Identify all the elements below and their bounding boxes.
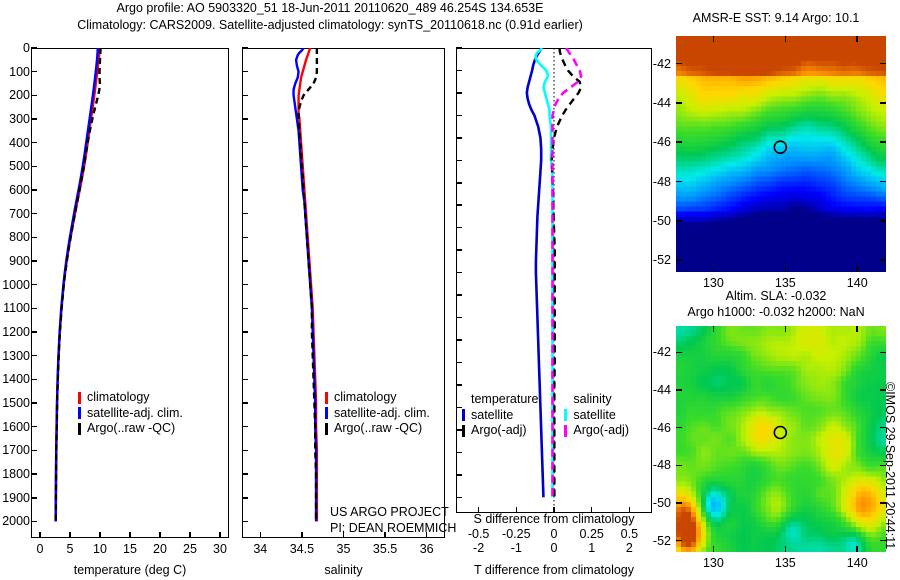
x-tick-mark: [785, 266, 787, 272]
y-tick-mark: [456, 160, 462, 162]
y-tick-mark: [456, 227, 462, 229]
y-tick-mark: [31, 450, 37, 452]
legend-swatch: [564, 409, 567, 421]
legend-item: satellite: [462, 408, 538, 424]
y-tick-mark: [31, 142, 37, 144]
y-tick-mark: [31, 331, 37, 333]
x-tick-mark: [856, 546, 858, 552]
y-tick-mark: [456, 362, 462, 364]
y-tick-mark: [31, 473, 37, 475]
x-tick-label: 0.25: [580, 527, 604, 541]
y-tick-label: 1500: [0, 396, 30, 410]
y-tick-label: 400: [0, 136, 30, 150]
y-tick-mark: [242, 213, 248, 215]
y-tick-mark: [676, 502, 682, 504]
y-tick-label: 1600: [0, 420, 30, 434]
sla-map-image: [676, 326, 886, 552]
y-tick-mark: [676, 259, 682, 261]
x-tick-label: -0.25: [502, 527, 531, 541]
y-tick-mark: [456, 182, 462, 184]
y-tick-mark: [456, 497, 462, 499]
legend-swatch: [78, 392, 81, 404]
y-tick-label: 800: [0, 230, 30, 244]
y-tick-mark: [242, 189, 248, 191]
y-tick-label: -52: [636, 253, 671, 267]
legend-column: salinitysatelliteArgo(-adj): [564, 392, 629, 439]
y-tick-mark: [456, 452, 462, 454]
y-tick-mark: [242, 47, 248, 49]
imos-credit: ©IMOS 29-Sep-2011 20:44:11: [883, 382, 897, 549]
y-tick-mark: [676, 465, 682, 467]
legend-column: temperaturesatelliteArgo(-adj): [462, 392, 538, 439]
y-tick-mark: [456, 317, 462, 319]
s-difference-axis-label: S difference from climatology: [452, 512, 656, 526]
legend-item: Argo(..raw -QC): [325, 421, 430, 437]
y-tick-mark: [456, 204, 462, 206]
y-tick-mark: [242, 402, 248, 404]
y-tick-mark: [242, 450, 248, 452]
y-tick-label: 1900: [0, 491, 30, 505]
x-tick-label: 35: [337, 542, 351, 556]
y-tick-mark: [31, 166, 37, 168]
x-tick-label: -0.5: [468, 527, 490, 541]
legend-label: Argo(-adj): [573, 423, 629, 439]
y-tick-mark: [31, 426, 37, 428]
y-tick-mark: [31, 118, 37, 120]
y-tick-mark: [31, 213, 37, 215]
y-tick-mark: [880, 259, 886, 261]
legend-swatch: [325, 392, 328, 404]
x-tick-label: 130: [703, 556, 724, 570]
y-tick-mark: [676, 102, 682, 104]
x-tick-mark: [713, 266, 715, 272]
y-tick-label: -48: [636, 458, 671, 472]
x-tick-label: 36: [420, 542, 434, 556]
project-credit: US ARGO PROJECT: [330, 505, 449, 519]
y-tick-mark: [242, 426, 248, 428]
y-tick-mark: [456, 474, 462, 476]
x-tick-mark: [39, 532, 41, 538]
pi-credit: PI: DEAN ROEMMICH: [330, 521, 456, 535]
y-tick-label: 1000: [0, 278, 30, 292]
x-tick-mark: [856, 326, 858, 332]
y-tick-mark: [31, 260, 37, 262]
y-tick-mark: [456, 47, 462, 49]
y-tick-mark: [242, 331, 248, 333]
y-tick-mark: [242, 284, 248, 286]
x-tick-label: 5: [67, 542, 74, 556]
y-tick-label: -52: [636, 534, 671, 548]
legend-swatch: [564, 425, 567, 437]
y-tick-label: -48: [636, 175, 671, 189]
salinity-legend: climatologysatellite-adj. clim.Argo(..ra…: [325, 390, 430, 437]
y-tick-label: 1700: [0, 443, 30, 457]
x-tick-label: 25: [183, 542, 197, 556]
y-tick-mark: [242, 166, 248, 168]
y-tick-mark: [242, 118, 248, 120]
x-tick-label: 34: [253, 542, 267, 556]
legend-swatch: [325, 423, 328, 435]
y-tick-label: -50: [636, 214, 671, 228]
y-tick-mark: [456, 294, 462, 296]
y-tick-label: 2000: [0, 514, 30, 528]
sla-map-title-line2: Argo h1000: -0.032 h2000: NaN: [661, 304, 891, 320]
legend-item: satellite: [564, 408, 629, 424]
legend-swatch: [462, 409, 465, 421]
x-tick-label: 2: [626, 541, 633, 555]
x-tick-label: 34.5: [290, 542, 314, 556]
y-tick-mark: [31, 521, 37, 523]
y-tick-mark: [31, 95, 37, 97]
legend-label: Argo(-adj): [471, 423, 527, 439]
x-tick-mark: [99, 532, 101, 538]
y-tick-mark: [456, 70, 462, 72]
y-tick-mark: [242, 71, 248, 73]
y-tick-mark: [676, 141, 682, 143]
y-tick-label: 900: [0, 254, 30, 268]
x-tick-label: 135: [775, 556, 796, 570]
x-tick-mark: [713, 36, 715, 42]
x-tick-mark: [219, 532, 221, 538]
y-tick-label: -42: [636, 345, 671, 359]
sst-map-image: [676, 36, 886, 272]
sst-map-title: AMSR-E SST: 9.14 Argo: 10.1: [661, 10, 891, 26]
y-tick-mark: [242, 379, 248, 381]
title-line-1: Argo profile: AO 5903320_51 18-Jun-2011 …: [0, 0, 660, 17]
y-tick-mark: [676, 220, 682, 222]
x-tick-label: 30: [213, 542, 227, 556]
y-tick-label: 1200: [0, 325, 30, 339]
legend-label: climatology: [334, 390, 397, 406]
x-tick-label: 0: [37, 542, 44, 556]
x-tick-mark: [189, 532, 191, 538]
y-tick-label: 1400: [0, 372, 30, 386]
x-tick-mark: [129, 532, 131, 538]
x-tick-mark: [785, 36, 787, 42]
y-tick-label: 1800: [0, 467, 30, 481]
salinity-axis-label: salinity: [242, 563, 445, 577]
y-tick-mark: [242, 497, 248, 499]
temperature-axis-label: temperature (deg C): [31, 563, 229, 577]
salinity-profile-plot: [242, 48, 445, 538]
legend-item: Argo(-adj): [462, 423, 538, 439]
y-tick-mark: [31, 237, 37, 239]
difference-profile-plot: [456, 48, 652, 513]
x-tick-label: 0: [551, 541, 558, 555]
y-tick-mark: [456, 249, 462, 251]
y-tick-mark: [242, 521, 248, 523]
legend-label: satellite-adj. clim.: [87, 406, 183, 422]
y-tick-mark: [31, 189, 37, 191]
legend-column-header: temperature: [462, 392, 538, 408]
y-tick-mark: [242, 308, 248, 310]
legend-item: climatology: [325, 390, 430, 406]
y-tick-mark: [880, 181, 886, 183]
x-tick-mark: [785, 326, 787, 332]
x-tick-mark: [159, 532, 161, 538]
legend-label: satellite: [471, 408, 513, 424]
y-tick-mark: [31, 355, 37, 357]
y-tick-mark: [31, 308, 37, 310]
x-tick-label: 0: [551, 527, 558, 541]
y-tick-label: 0: [0, 41, 30, 55]
y-tick-mark: [456, 272, 462, 274]
y-tick-mark: [31, 379, 37, 381]
y-tick-mark: [31, 71, 37, 73]
y-tick-mark: [456, 384, 462, 386]
difference-legend: temperaturesatelliteArgo(-adj)salinitysa…: [462, 392, 629, 439]
legend-item: Argo(-adj): [564, 423, 629, 439]
y-tick-mark: [242, 142, 248, 144]
y-tick-label: 300: [0, 112, 30, 126]
temperature-legend: climatologysatellite-adj. clim.Argo(..ra…: [78, 390, 183, 437]
x-tick-mark: [69, 532, 71, 538]
y-tick-label: 700: [0, 207, 30, 221]
x-tick-mark: [260, 532, 262, 538]
x-tick-label: 20: [153, 542, 167, 556]
y-tick-mark: [242, 473, 248, 475]
y-tick-label: 600: [0, 183, 30, 197]
y-tick-label: 200: [0, 88, 30, 102]
legend-item: satellite-adj. clim.: [325, 406, 430, 422]
x-tick-label: 15: [123, 542, 137, 556]
x-tick-label: -2: [473, 541, 484, 555]
legend-label: climatology: [87, 390, 150, 406]
x-tick-mark: [713, 326, 715, 332]
legend-column-header: salinity: [564, 392, 629, 408]
legend-label: Argo(..raw -QC): [87, 421, 175, 437]
y-tick-label: 500: [0, 159, 30, 173]
y-tick-mark: [880, 102, 886, 104]
y-tick-mark: [880, 141, 886, 143]
legend-swatch: [462, 425, 465, 437]
y-tick-mark: [676, 63, 682, 65]
temperature-profile-plot: [31, 48, 229, 538]
y-tick-label: 1100: [0, 301, 30, 315]
y-tick-mark: [676, 389, 682, 391]
y-tick-mark: [242, 95, 248, 97]
y-tick-mark: [456, 115, 462, 117]
y-tick-label: 100: [0, 65, 30, 79]
title-line-2: Climatology: CARS2009. Satellite-adjuste…: [0, 17, 660, 34]
x-tick-mark: [301, 532, 303, 538]
legend-item: satellite-adj. clim.: [78, 406, 183, 422]
y-tick-mark: [676, 181, 682, 183]
sla-map-title-line1: Altim. SLA: -0.032: [661, 288, 891, 304]
y-tick-label: -46: [636, 421, 671, 435]
y-tick-mark: [880, 63, 886, 65]
x-tick-label: -1: [511, 541, 522, 555]
legend-item: Argo(..raw -QC): [78, 421, 183, 437]
x-tick-label: 140: [847, 556, 868, 570]
x-tick-mark: [713, 546, 715, 552]
legend-label: satellite: [573, 408, 615, 424]
y-tick-mark: [456, 339, 462, 341]
legend-swatch: [325, 407, 328, 419]
y-tick-mark: [31, 284, 37, 286]
y-tick-mark: [31, 47, 37, 49]
y-tick-mark: [242, 260, 248, 262]
y-tick-label: 1300: [0, 349, 30, 363]
y-tick-mark: [676, 427, 682, 429]
x-tick-mark: [785, 546, 787, 552]
legend-swatch: [78, 407, 81, 419]
x-tick-mark: [856, 36, 858, 42]
page-title: Argo profile: AO 5903320_51 18-Jun-2011 …: [0, 0, 660, 34]
x-tick-label: 10: [93, 542, 107, 556]
y-tick-mark: [676, 352, 682, 354]
y-tick-label: -42: [636, 57, 671, 71]
legend-swatch: [78, 423, 81, 435]
legend-label: Argo(..raw -QC): [334, 421, 422, 437]
y-tick-mark: [676, 540, 682, 542]
y-tick-label: -44: [636, 96, 671, 110]
y-tick-mark: [456, 137, 462, 139]
y-tick-label: -50: [636, 496, 671, 510]
y-tick-mark: [31, 497, 37, 499]
y-tick-mark: [242, 237, 248, 239]
y-tick-mark: [31, 402, 37, 404]
y-tick-mark: [242, 355, 248, 357]
x-tick-label: 1: [588, 541, 595, 555]
x-tick-mark: [856, 266, 858, 272]
y-tick-mark: [456, 92, 462, 94]
y-tick-mark: [880, 352, 886, 354]
t-difference-axis-label: T difference from climatology: [452, 563, 656, 577]
legend-item: climatology: [78, 390, 183, 406]
legend-label: satellite-adj. clim.: [334, 406, 430, 422]
y-tick-label: -46: [636, 135, 671, 149]
x-tick-label: 35.5: [373, 542, 397, 556]
y-tick-label: -44: [636, 383, 671, 397]
y-tick-mark: [880, 220, 886, 222]
